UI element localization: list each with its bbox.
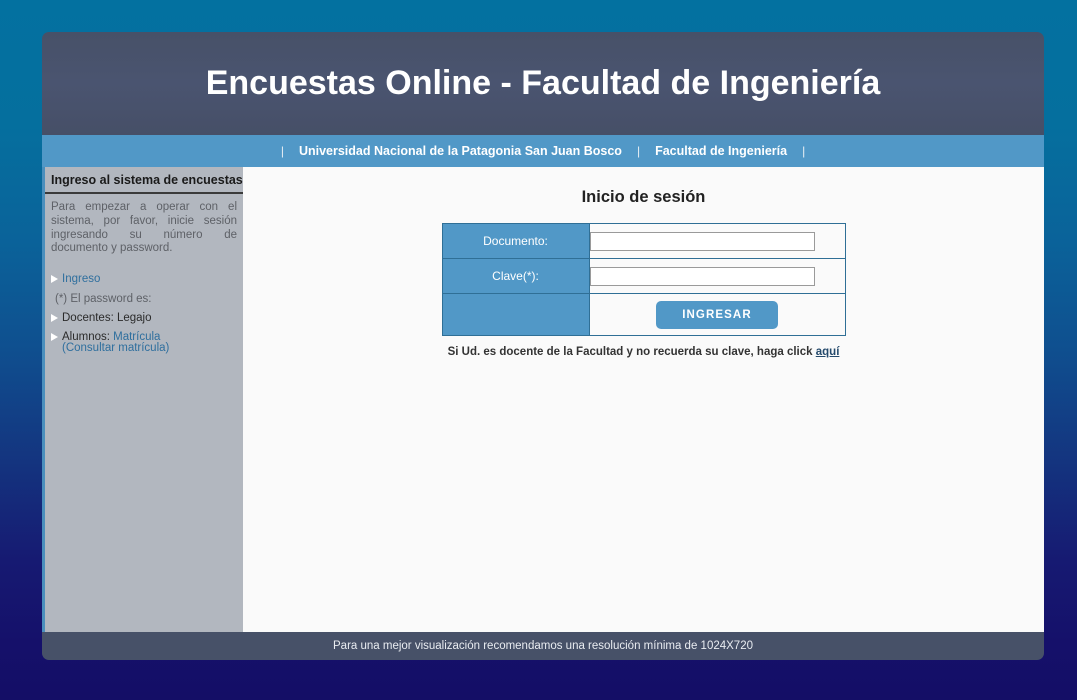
- page-header: Encuestas Online - Facultad de Ingenierí…: [42, 32, 1044, 135]
- forgot-password-text: Si Ud. es docente de la Facultad y no re…: [448, 346, 813, 358]
- forgot-password-note: Si Ud. es docente de la Facultad y no re…: [243, 346, 1044, 358]
- triangle-bullet-icon: [51, 314, 58, 322]
- sidebar: Ingreso al sistema de encuestas Para emp…: [42, 167, 243, 632]
- table-row-documento: Documento:: [442, 224, 845, 259]
- sidebar-link-ingreso[interactable]: Ingreso: [62, 272, 100, 286]
- forgot-password-link[interactable]: aquí: [816, 346, 840, 358]
- nav-link-facultad[interactable]: Facultad de Ingeniería: [649, 144, 793, 158]
- triangle-bullet-icon: [51, 333, 58, 341]
- label-empty: [442, 294, 589, 336]
- sidebar-intro-text: Para empezar a operar con el sistema, po…: [51, 201, 237, 256]
- login-form-table: Documento: Clave(*): INGRESAR: [442, 223, 846, 336]
- triangle-bullet-icon: [51, 275, 58, 283]
- sidebar-content: Para empezar a operar con el sistema, po…: [45, 194, 243, 367]
- sidebar-password-note: (*) El password es:: [51, 292, 237, 306]
- label-documento: Documento:: [442, 224, 589, 259]
- sidebar-link-consultar-matricula[interactable]: (Consultar matrícula): [62, 341, 169, 355]
- documento-input[interactable]: [590, 232, 815, 251]
- page-body: Ingreso al sistema de encuestas Para emp…: [42, 167, 1044, 632]
- action-cell: INGRESAR: [589, 294, 845, 336]
- clave-input[interactable]: [590, 267, 815, 286]
- sidebar-alumnos-group: Alumnos: Matrícula (Consultar matrícula): [62, 330, 169, 356]
- top-navbar: | Universidad Nacional de la Patagonia S…: [42, 135, 1044, 167]
- main-content: Inicio de sesión Documento: Clave(*):: [243, 167, 1044, 632]
- label-clave: Clave(*):: [442, 259, 589, 294]
- table-row-clave: Clave(*):: [442, 259, 845, 294]
- field-cell-clave: [589, 259, 845, 294]
- page-footer: Para una mejor visualización recomendamo…: [42, 632, 1044, 660]
- sidebar-item-docentes: Docentes: Legajo: [51, 311, 237, 325]
- table-row-submit: INGRESAR: [442, 294, 845, 336]
- nav-separator-2: |: [793, 144, 814, 158]
- nav-separator-1: |: [628, 144, 649, 158]
- ingresar-button[interactable]: INGRESAR: [656, 301, 778, 329]
- sidebar-title: Ingreso al sistema de encuestas: [45, 167, 243, 194]
- footer-text: Para una mejor visualización recomendamo…: [333, 640, 753, 652]
- page-title: Encuestas Online - Facultad de Ingenierí…: [206, 64, 881, 103]
- sidebar-item-ingreso[interactable]: Ingreso: [51, 272, 237, 286]
- page-panel: Encuestas Online - Facultad de Ingenierí…: [42, 32, 1044, 660]
- sidebar-label-docentes: Docentes: Legajo: [62, 311, 152, 325]
- nav-link-universidad[interactable]: Universidad Nacional de la Patagonia San…: [293, 144, 628, 158]
- login-heading: Inicio de sesión: [243, 188, 1044, 207]
- nav-separator-0: |: [272, 144, 293, 158]
- sidebar-item-alumnos[interactable]: Alumnos: Matrícula (Consultar matrícula): [51, 330, 237, 356]
- field-cell-documento: [589, 224, 845, 259]
